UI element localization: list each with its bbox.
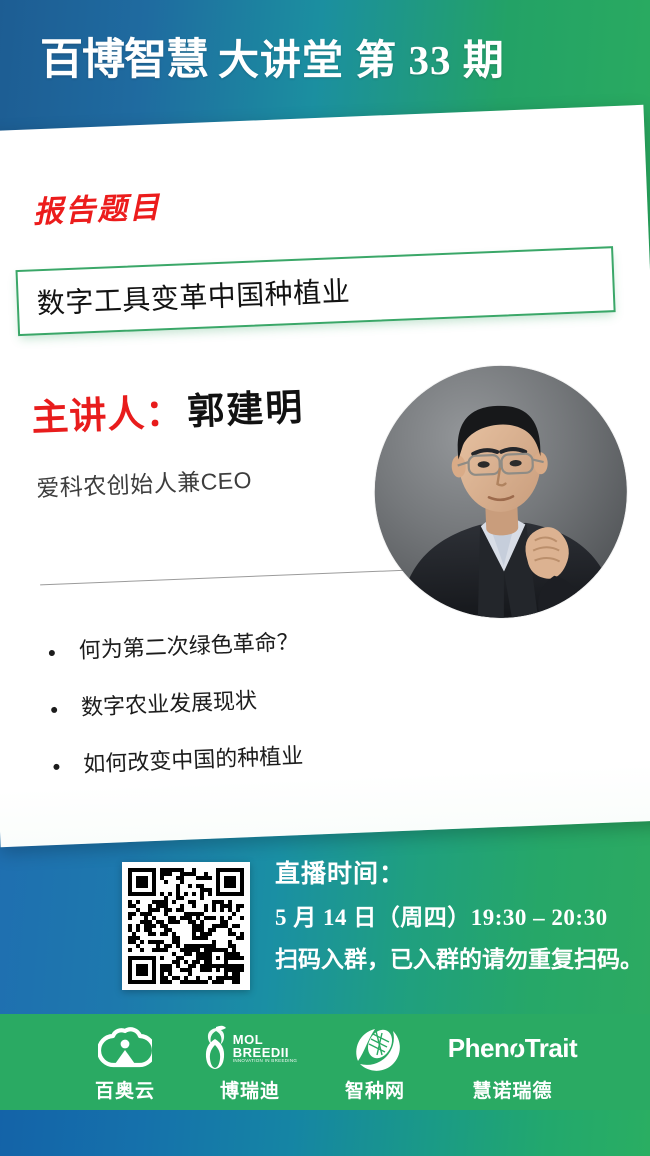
live-note: 扫码入群，已入群的请勿重复扫码。 [275,948,645,971]
divider [40,569,435,586]
portrait-illustration [370,361,632,623]
speaker-name: 郭建明 [186,387,305,433]
speaker-line: 主讲人：郭建明 [31,389,305,437]
sponsor-name: 博瑞迪 [220,1076,280,1103]
background-bottom-strip [0,1108,650,1156]
sponsor-boruidi[interactable]: MOL BREEDII INNOVATION IN BREEDING 博瑞迪 [188,1014,313,1103]
sponsor-name: 慧诺瑞德 [472,1076,552,1103]
bullet-dot-icon [49,650,55,656]
talk-title-box: 数字工具变革中国种植业 [15,246,615,336]
sponsor-name: 智种网 [345,1076,405,1103]
topic-list: 何为第二次绿色革命？ 数字农业发展现状 如何改变中国的种植业 [40,624,487,813]
mol-mark-line1: MOL [233,1033,297,1046]
speaker-portrait [370,361,632,623]
live-info: 直播时间： 5 月 14 日（周四）19:30 – 20:30 扫码入群，已入群… [275,862,645,971]
phenotrait-part-a: Phen [448,1033,510,1064]
talk-title: 数字工具变革中国种植业 [36,270,351,323]
content-card: 报告题目 数字工具变革中国种植业 主讲人：郭建明 爱科农创始人兼CEO 何为第二… [0,105,650,847]
list-item-label: 如何改变中国的种植业 [83,743,304,777]
brand-name: 百博智慧 [40,36,208,84]
sponsor-baiaoyun[interactable]: 百奥云 [63,1014,188,1103]
sponsor-bar: 百奥云 MOL BREEDII INNOVATION IN BREEDING [0,1014,650,1110]
sponsor-name: 百奥云 [95,1076,155,1103]
content-card-body: 报告题目 数字工具变革中国种植业 主讲人：郭建明 爱科农创始人兼CEO 何为第二… [0,105,650,847]
corn-leaf-icon [349,1022,401,1074]
sponsor-zhizhongwang[interactable]: 智种网 [313,1014,438,1103]
mol-mark-line2: BREEDII [233,1046,297,1059]
mol-mark-line3: INNOVATION IN BREEDING [233,1059,297,1064]
phenotrait-slashed-o-icon: o [509,1033,524,1064]
qr-code-image [128,868,244,984]
sponsor-phenotrait[interactable]: PhenoTrait 慧诺瑞德 [438,1014,588,1103]
list-item-label: 何为第二次绿色革命？ [78,629,299,663]
phenotrait-part-b: Trait [525,1033,577,1064]
list-item-label: 数字农业发展现状 [81,688,258,720]
page-title: 百博智慧大讲堂 第 33 期 [40,39,505,82]
qr-code[interactable] [122,862,250,990]
list-item: 何为第二次绿色革命？ [40,624,481,664]
list-item: 如何改变中国的种植业 [45,738,486,778]
list-item: 数字农业发展现状 [43,681,484,721]
live-datetime: 5 月 14 日（周四）19:30 – 20:30 [275,906,645,929]
mol-breedii-icon: MOL BREEDII INNOVATION IN BREEDING [203,1022,297,1074]
cloud-mountain-icon [98,1022,152,1074]
header-subtitle: 大讲堂 第 33 期 [218,37,505,83]
poster-root: 百博智慧大讲堂 第 33 期 报告题目 数字工具变革中国种植业 主讲人：郭建明 … [0,0,650,1156]
phenotrait-wordmark: PhenoTrait [448,1022,577,1074]
live-time-label: 直播时间： [275,862,645,887]
bullet-dot-icon [53,764,59,770]
speaker-role: 爱科农创始人兼CEO [36,461,253,504]
speaker-label: 主讲人： [31,392,185,439]
report-label: 报告题目 [32,182,162,231]
header: 百博智慧大讲堂 第 33 期 [0,0,650,120]
bullet-dot-icon [51,707,57,713]
